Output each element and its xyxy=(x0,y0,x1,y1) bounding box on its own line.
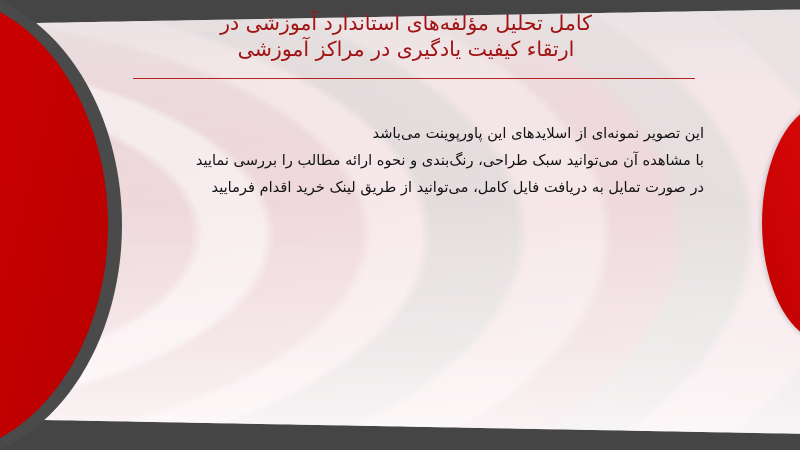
title-line-2: ارتقاء کیفیت یادگیری در مراکز آموزشی xyxy=(100,36,712,62)
body-line-1: این تصویر نمونه‌ای از اسلایدهای این پاور… xyxy=(104,120,704,147)
slide-title: کامل تحلیل مؤلفه‌های استاندارد آموزشی در… xyxy=(100,10,712,62)
body-line-2: با مشاهده آن می‌توانید سبک طراحی، رنگ‌بن… xyxy=(104,147,704,174)
slide-content: کامل تحلیل مؤلفه‌های استاندارد آموزشی در… xyxy=(0,0,800,450)
title-underline-rule xyxy=(133,78,695,79)
slide-canvas: کامل تحلیل مؤلفه‌های استاندارد آموزشی در… xyxy=(0,0,800,450)
slide-body: این تصویر نمونه‌ای از اسلایدهای این پاور… xyxy=(104,120,704,201)
title-line-1: کامل تحلیل مؤلفه‌های استاندارد آموزشی در xyxy=(100,10,712,36)
body-line-3: در صورت تمایل به دریافت فایل کامل، می‌تو… xyxy=(104,174,704,201)
